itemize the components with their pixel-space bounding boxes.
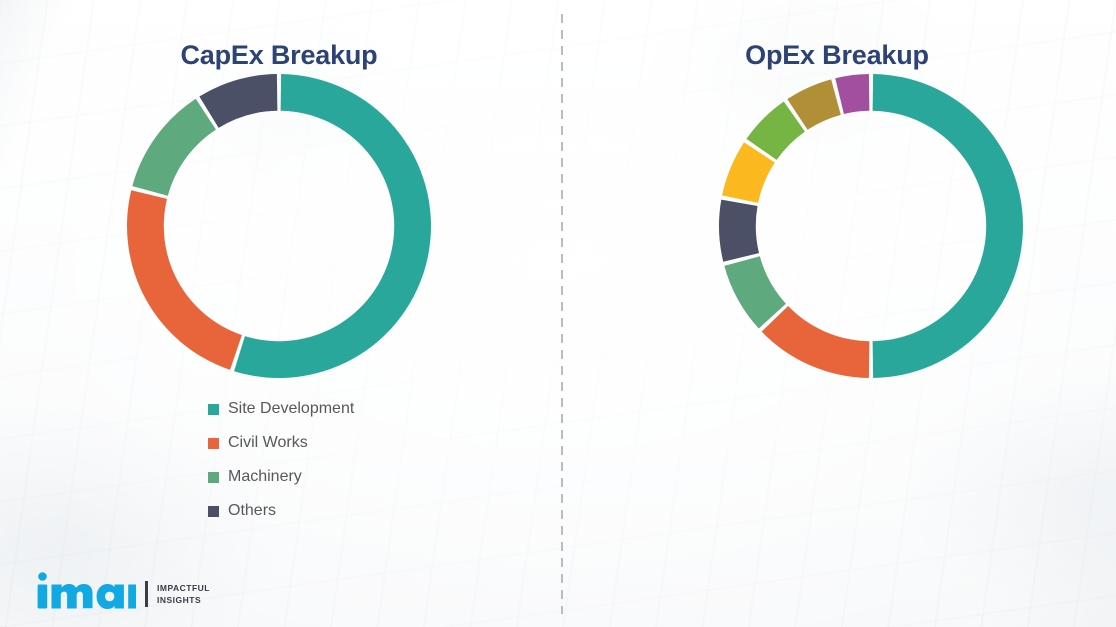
capex-donut-svg: Site Development: 55%Civil Works: 24%Mac…: [126, 73, 432, 379]
donut-slice[interactable]: Civil Works: 24%: [127, 190, 242, 370]
legend-swatch-machinery: [208, 472, 219, 483]
opex-donut-svg: Raw Materials: 50%Salaries and Wages: 13…: [718, 73, 1024, 379]
donut-slice[interactable]: Others: 9%: [199, 74, 277, 128]
capex-chart-title: CapEx Breakup: [0, 40, 558, 71]
imarc-wordmark-icon: [32, 571, 136, 609]
panel-divider: [561, 14, 563, 614]
donut-slice[interactable]: Utility: 7%: [719, 200, 759, 262]
legend-label-site-development: Site Development: [228, 401, 354, 417]
capex-donut-chart: Site Development: 55%Civil Works: 24%Mac…: [126, 73, 432, 379]
legend-item[interactable]: Site Development: [208, 392, 354, 426]
legend-swatch-site-development: [208, 404, 219, 415]
donut-slice[interactable]: Raw Materials: 50%: [873, 74, 1023, 378]
charts-container: CapEx Breakup Site Development: 55%Civil…: [0, 0, 1116, 627]
opex-donut-chart: Raw Materials: 50%Salaries and Wages: 13…: [718, 73, 1024, 379]
tagline-line-2: INSIGHTS: [157, 594, 210, 606]
legend-label-civil-works: Civil Works: [228, 435, 308, 451]
legend-item[interactable]: Machinery: [208, 460, 354, 494]
legend-swatch-others: [208, 506, 219, 517]
imarc-tagline: IMPACTFUL INSIGHTS: [145, 581, 210, 607]
legend-swatch-civil-works: [208, 438, 219, 449]
donut-slice[interactable]: Site Development: 55%: [234, 74, 431, 378]
legend-label-others: Others: [228, 503, 276, 519]
capex-legend: Site Development Civil Works Machinery O…: [208, 392, 354, 528]
tagline-line-1: IMPACTFUL: [157, 582, 210, 594]
legend-item[interactable]: Civil Works: [208, 426, 354, 460]
donut-slice[interactable]: Others: 4%: [835, 74, 869, 114]
capex-panel: CapEx Breakup Site Development: 55%Civil…: [0, 0, 558, 627]
donut-slice[interactable]: Salaries and Wages: 13%: [762, 306, 870, 378]
legend-label-machinery: Machinery: [228, 469, 302, 485]
legend-item[interactable]: Others: [208, 494, 354, 528]
donut-slice[interactable]: Machinery: 12%: [132, 99, 216, 196]
imarc-logo[interactable]: IMPACTFUL INSIGHTS: [32, 571, 210, 609]
opex-chart-title: OpEx Breakup: [558, 40, 1116, 71]
opex-panel: OpEx Breakup Raw Materials: 50%Salaries …: [558, 0, 1116, 627]
